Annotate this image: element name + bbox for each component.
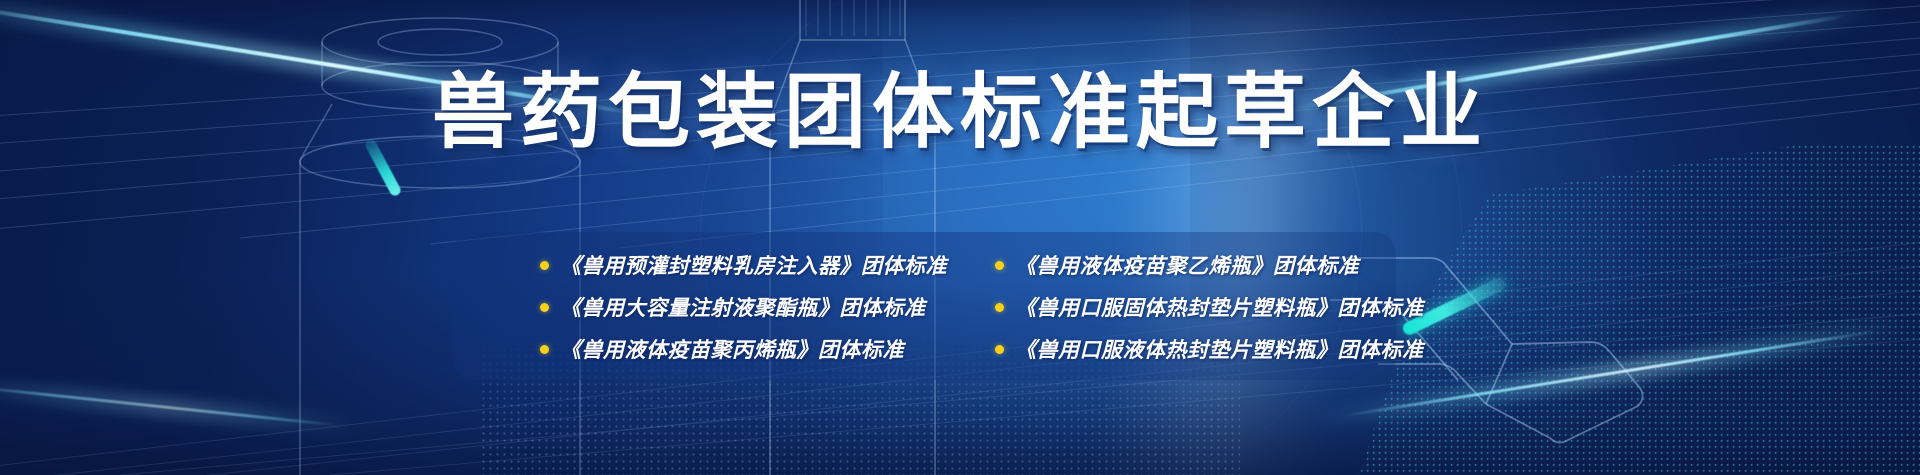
standard-item: 《兽用液体疫苗聚乙烯瓶》团体标准 xyxy=(995,250,1420,280)
banner-title: 兽药包装团体标准起草企业 xyxy=(0,72,1920,154)
bullet-icon xyxy=(995,303,1004,312)
standard-item: 《兽用口服液体热封垫片塑料瓶》团体标准 xyxy=(995,334,1420,364)
standard-label: 《兽用口服液体热封垫片塑料瓶》团体标准 xyxy=(1015,334,1424,364)
standard-label: 《兽用大容量注射液聚酯瓶》团体标准 xyxy=(560,292,926,322)
standard-label: 《兽用口服固体热封垫片塑料瓶》团体标准 xyxy=(1015,292,1424,322)
standard-item: 《兽用预灌封塑料乳房注入器》团体标准 xyxy=(540,250,995,280)
bullet-icon xyxy=(995,261,1004,270)
standard-item: 《兽用大容量注射液聚酯瓶》团体标准 xyxy=(540,292,995,322)
bullet-icon xyxy=(995,345,1004,354)
bullet-icon xyxy=(540,303,549,312)
standard-item: 《兽用液体疫苗聚丙烯瓶》团体标准 xyxy=(540,334,995,364)
bullet-icon xyxy=(540,345,549,354)
promo-banner: 兽药包装团体标准起草企业 《兽用预灌封塑料乳房注入器》团体标准 《兽用液体疫苗聚… xyxy=(0,0,1920,475)
standard-label: 《兽用预灌封塑料乳房注入器》团体标准 xyxy=(560,250,947,280)
standard-item: 《兽用口服固体热封垫片塑料瓶》团体标准 xyxy=(995,292,1420,322)
standard-label: 《兽用液体疫苗聚乙烯瓶》团体标准 xyxy=(1015,250,1359,280)
standards-list: 《兽用预灌封塑料乳房注入器》团体标准 《兽用液体疫苗聚乙烯瓶》团体标准 《兽用大… xyxy=(540,244,1420,370)
standard-label: 《兽用液体疫苗聚丙烯瓶》团体标准 xyxy=(560,334,904,364)
bullet-icon xyxy=(540,261,549,270)
